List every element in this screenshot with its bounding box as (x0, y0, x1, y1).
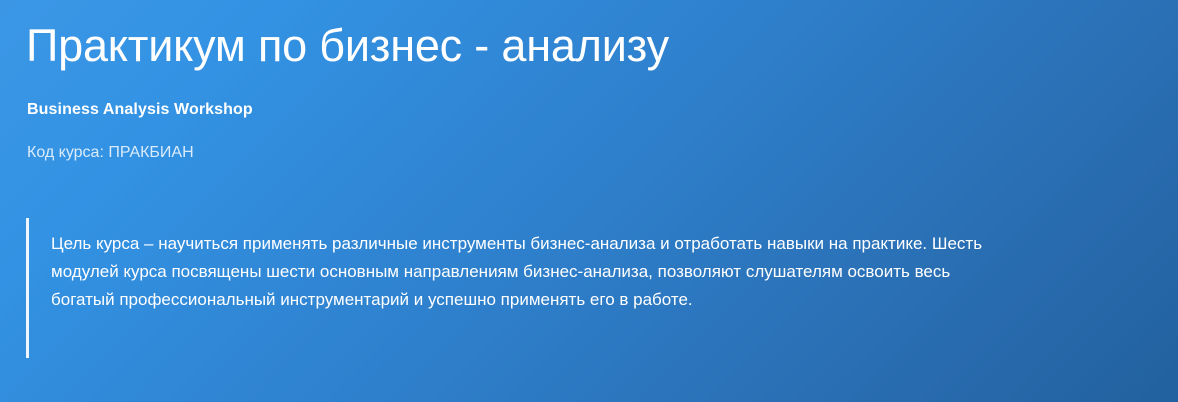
course-description-quote: Цель курса – научиться применять различн… (26, 218, 994, 358)
page-title: Практикум по бизнес - анализу (26, 18, 1148, 74)
course-subtitle-english: Business Analysis Workshop (26, 74, 1148, 120)
course-code: Код курса: ПРАКБИАН (26, 120, 1148, 163)
course-description-text: Цель курса – научиться применять различн… (51, 218, 994, 314)
hero-content: Практикум по бизнес - анализу Business A… (0, 0, 1178, 358)
course-hero-banner: Практикум по бизнес - анализу Business A… (0, 0, 1178, 402)
